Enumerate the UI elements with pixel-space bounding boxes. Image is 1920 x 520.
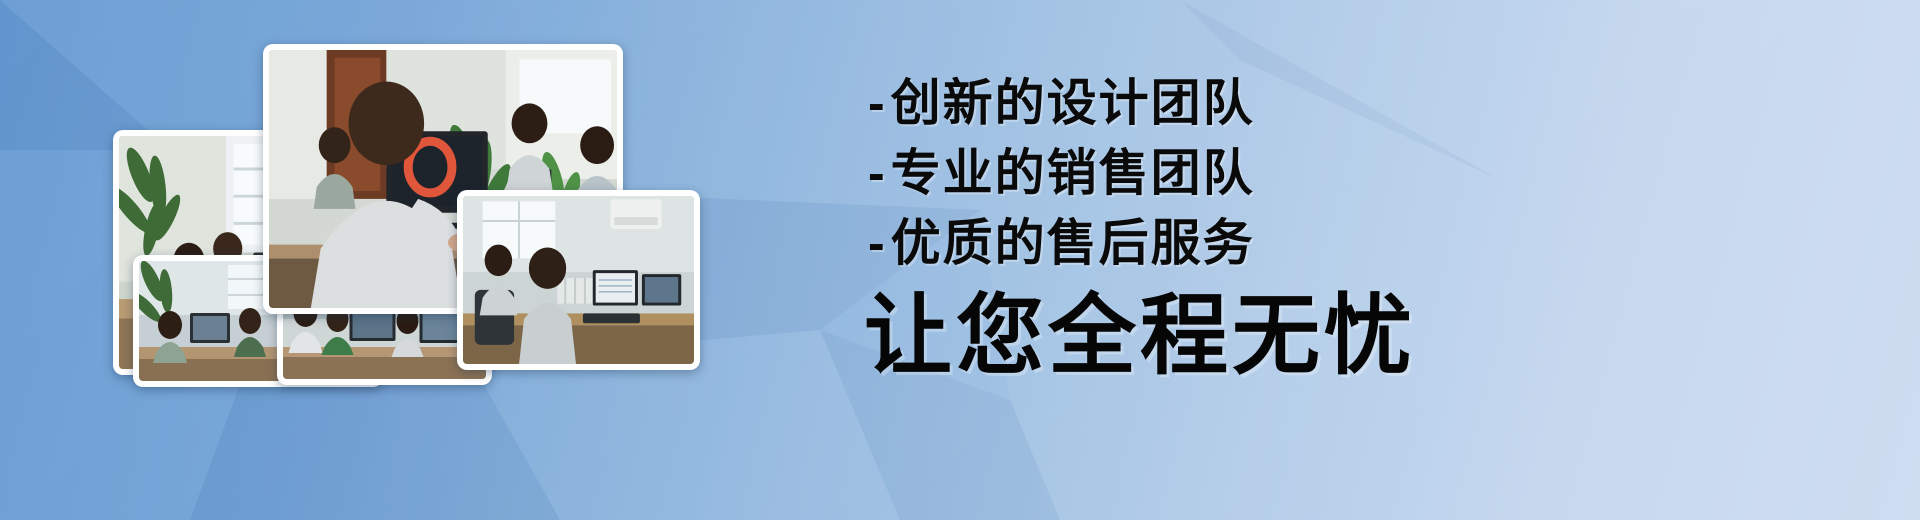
bullet-label-2: 专业的销售团队 xyxy=(891,145,1255,201)
promo-banner: -创新的设计团队 -专业的销售团队 -优质的售后服务 让您全程无忧 xyxy=(0,0,1920,520)
bullet-dash-1: - xyxy=(868,75,887,131)
collage-photo-5 xyxy=(457,190,700,370)
bullet-line-2: -专业的销售团队 xyxy=(868,148,1255,198)
photo-5-image xyxy=(463,196,694,364)
photo-collage xyxy=(0,0,860,520)
bullet-label-3: 优质的售后服务 xyxy=(891,215,1255,271)
bullet-label-1: 创新的设计团队 xyxy=(891,75,1255,131)
bullet-line-3: -优质的售后服务 xyxy=(868,218,1255,268)
bullet-dash-2: - xyxy=(868,145,887,201)
bullet-line-1: -创新的设计团队 xyxy=(868,78,1255,128)
banner-headline: 让您全程无忧 xyxy=(864,292,1416,380)
text-column: -创新的设计团队 -专业的销售团队 -优质的售后服务 让您全程无忧 xyxy=(860,0,1920,520)
bullet-dash-3: - xyxy=(868,215,887,271)
